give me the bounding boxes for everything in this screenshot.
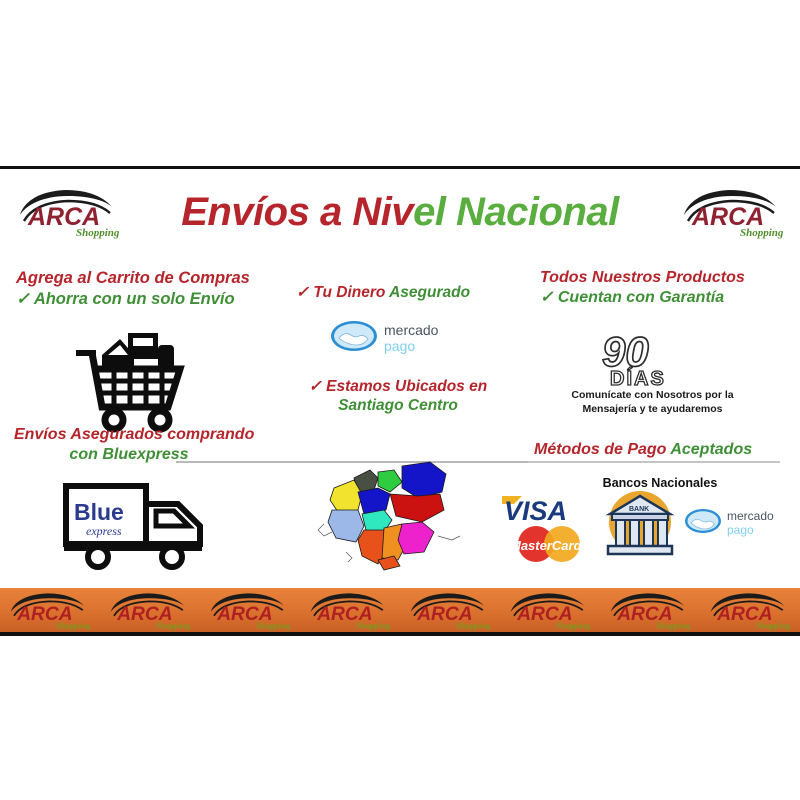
mercadopago-word1: mercado [384, 322, 439, 338]
footer-logo-strip: ARCAShoppingARCAShoppingARCAShoppingARCA… [0, 588, 800, 634]
title-part-red: Envíos a Niv [181, 190, 413, 234]
check-icon: ✓ [16, 290, 30, 308]
brand-tagline: Shopping [740, 227, 784, 239]
feature-money-heading: ✓ Tu Dinero Asegurado [296, 283, 470, 302]
feature-location-line2: Santiago Centro [338, 397, 458, 414]
visa-logo: VISA [500, 492, 592, 526]
mercadopago-logo-payments: mercado pago [684, 505, 792, 545]
svg-text:Shopping: Shopping [356, 621, 391, 631]
payments-heading: Métodos de Pago Aceptados [534, 440, 752, 460]
santiago-region-map [318, 448, 478, 578]
svg-text:Shopping: Shopping [256, 621, 291, 631]
footer-logo-item: ARCAShopping [200, 591, 300, 631]
feature-bluexpress-line1: Envíos Asegurados comprando [14, 426, 254, 443]
title-part-green: el Nacional [413, 190, 619, 234]
footer-logo-item: ARCAShopping [400, 591, 500, 631]
payments-connector-line [528, 461, 780, 463]
guarantee-note: Comunícate con Nosotros por la Mensajerí… [545, 388, 760, 416]
guarantee-note-line1: Comunícate con Nosotros por la [571, 389, 733, 401]
bluexpress-word2: express [86, 524, 122, 538]
visa-label: VISA [504, 496, 567, 526]
svg-text:Shopping: Shopping [456, 621, 491, 631]
bluexpress-truck-icon: Blue express [60, 478, 225, 568]
feature-guarantee-line2: Cuentan con Garantía [558, 289, 724, 306]
footer-logo-item: ARCAShopping [0, 591, 100, 631]
svg-text:Shopping: Shopping [56, 621, 91, 631]
svg-text:Shopping: Shopping [756, 621, 791, 631]
guarantee-note-line2: Mensajería y te ayudaremos [582, 403, 722, 415]
feature-bluexpress-heading: Envíos Asegurados comprando con Bluexpre… [14, 425, 244, 465]
payments-line1-red: Métodos de Pago [534, 441, 666, 458]
check-icon: ✓ [540, 289, 553, 306]
footer-logo-item: ARCAShopping [700, 591, 800, 631]
check-icon: ✓ [296, 284, 309, 301]
bluexpress-word1: Blue [74, 499, 124, 525]
shopping-cart-icon [72, 325, 202, 430]
feature-money-line1-green: Asegurado [389, 284, 470, 301]
footer-logo-item: ARCAShopping [300, 591, 400, 631]
feature-cart-line2: Ahorra con un solo Envío [34, 290, 235, 308]
feature-guarantee-heading: Todos Nuestros Productos ✓ Cuentan con G… [540, 268, 745, 308]
feature-cart-line1: Agrega al Carrito de Compras [16, 269, 250, 287]
feature-guarantee-line1: Todos Nuestros Productos [540, 269, 745, 286]
payments-line1-green: Aceptados [670, 441, 752, 458]
feature-cart-heading: Agrega al Carrito de Compras ✓ Ahorra co… [16, 268, 250, 309]
bank-icon-label: BANK [629, 506, 649, 513]
feature-location-line1: Estamos Ubicados en [326, 378, 487, 395]
guarantee-badge: 90 DÍAS [596, 328, 716, 390]
bottom-divider [0, 632, 800, 636]
badge-unit: DÍAS [610, 367, 666, 390]
check-icon: ✓ [309, 378, 322, 395]
bank-icon: BANK [600, 488, 680, 560]
svg-text:Shopping: Shopping [656, 621, 691, 631]
mastercard-logo: MasterCard [500, 525, 598, 563]
footer-logo-item: ARCAShopping [100, 591, 200, 631]
feature-bluexpress-line2: con Bluexpress [69, 446, 188, 463]
feature-money-line1-red: Tu Dinero [313, 284, 385, 301]
promo-banner: ARCA Shopping Envíos a Nivel Nacional AR… [0, 0, 800, 800]
mercadopago-word2: pago [727, 523, 754, 537]
svg-text:Shopping: Shopping [556, 621, 591, 631]
mercadopago-word2: pago [384, 338, 415, 354]
mercadopago-logo: mercado pago [330, 318, 455, 362]
brand-logo-right: ARCA Shopping [678, 185, 788, 245]
top-divider [0, 166, 800, 169]
svg-text:Shopping: Shopping [156, 621, 191, 631]
feature-location-heading: ✓ Estamos Ubicados en Santiago Centro [298, 377, 498, 416]
footer-logo-item: ARCAShopping [500, 591, 600, 631]
mercadopago-word1: mercado [727, 509, 774, 523]
footer-logo-item: ARCAShopping [600, 591, 700, 631]
mastercard-label: MasterCard [510, 538, 583, 553]
